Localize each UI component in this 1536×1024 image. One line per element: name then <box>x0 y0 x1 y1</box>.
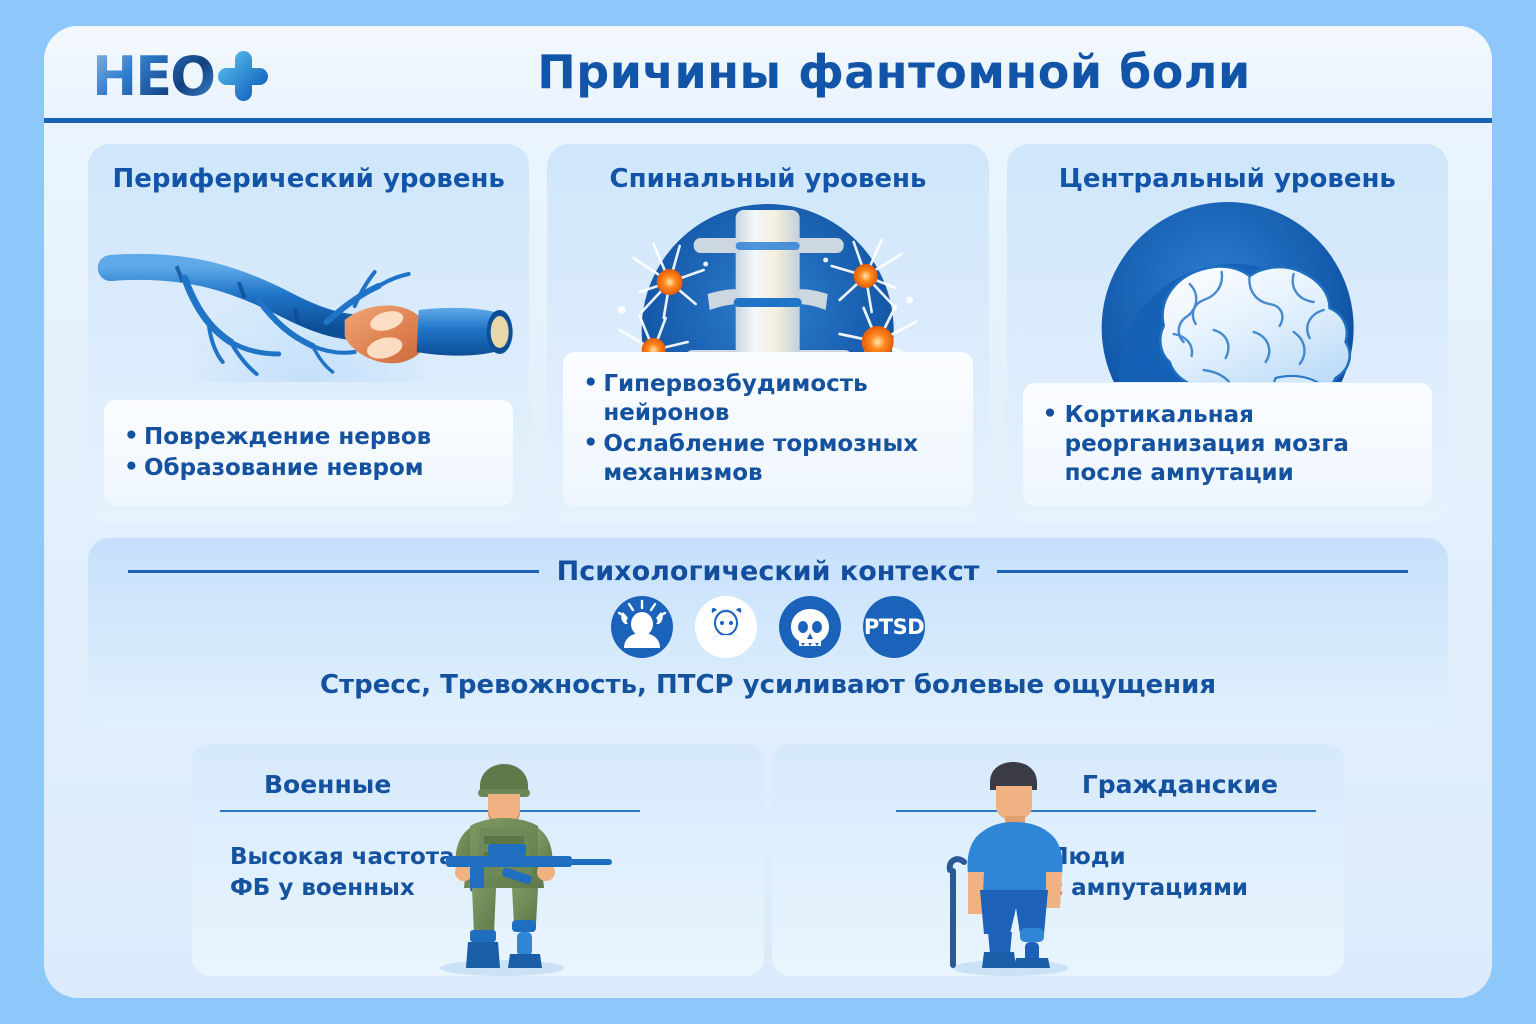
civilian-with-prosthesis-icon <box>892 756 1132 976</box>
divider-right <box>997 570 1408 573</box>
card-bullets-box: Кортикальная реорганизация мозга после а… <box>1023 383 1432 506</box>
psych-caption: Стресс, Тревожность, ПТСР усиливают боле… <box>88 670 1448 700</box>
card-bullets-box: Повреждение нервов Образование невром <box>104 400 513 506</box>
card-peripheral-level[interactable]: Периферический уровень <box>88 144 529 524</box>
stress-person-icon <box>611 596 673 658</box>
groups-row: Военные Высокая частота ФБ у военных <box>192 744 1344 976</box>
logo-text: HEO <box>92 45 214 108</box>
group-civilian[interactable]: Гражданские Люди с ампутациями <box>772 744 1344 976</box>
soldier-with-prosthesis-icon <box>384 756 624 976</box>
skull-icon <box>779 596 841 658</box>
header-bar: HEO Причины фантомной боли <box>44 26 1492 118</box>
psych-header: Психологический контекст <box>128 554 1408 588</box>
psychological-context-panel: Психологический контекст <box>88 538 1448 730</box>
list-item: Образование невром <box>122 454 495 483</box>
head-brain-icon <box>1007 202 1448 382</box>
list-item: Гипервозбудимость нейронов <box>581 370 954 428</box>
card-spinal-level[interactable]: Спинальный уровень <box>547 144 988 524</box>
bullet-list: Гипервозбудимость нейронов Ослабление то… <box>581 368 954 490</box>
anxiety-person-icon <box>695 596 757 658</box>
brand-logo: HEO <box>92 48 332 104</box>
card-title: Центральный уровень <box>1007 164 1448 194</box>
divider-left <box>128 570 539 573</box>
infographic-poster: HEO Причины фантомной боли Периферически… <box>44 26 1492 998</box>
list-item: Повреждение нервов <box>122 423 495 452</box>
group-title: Военные <box>264 770 391 799</box>
card-central-level[interactable]: Центральный уровень <box>1007 144 1448 524</box>
card-title: Спинальный уровень <box>547 164 988 194</box>
psych-icons-row: PTSD <box>88 596 1448 658</box>
page-title: Причины фантомной боли <box>344 26 1444 118</box>
card-bullets-box: Гипервозбудимость нейронов Ослабление то… <box>563 352 972 506</box>
header-divider <box>44 118 1492 123</box>
damaged-nerve-neuroma-icon <box>88 202 529 382</box>
list-item: Кортикальная реорганизация мозга после а… <box>1041 401 1414 488</box>
group-military[interactable]: Военные Высокая частота ФБ у военных <box>192 744 764 976</box>
ptsd-label: PTSD <box>864 615 924 639</box>
bullet-list: Кортикальная реорганизация мозга после а… <box>1041 399 1414 490</box>
bullet-list: Повреждение нервов Образование невром <box>122 421 495 485</box>
psych-title: Психологический контекст <box>557 556 980 587</box>
card-title: Периферический уровень <box>88 164 529 194</box>
list-item: Ослабление тормозных механизмов <box>581 430 954 488</box>
levels-row: Периферический уровень <box>88 144 1448 524</box>
ptsd-badge-icon: PTSD <box>863 596 925 658</box>
plus-icon <box>218 51 268 101</box>
